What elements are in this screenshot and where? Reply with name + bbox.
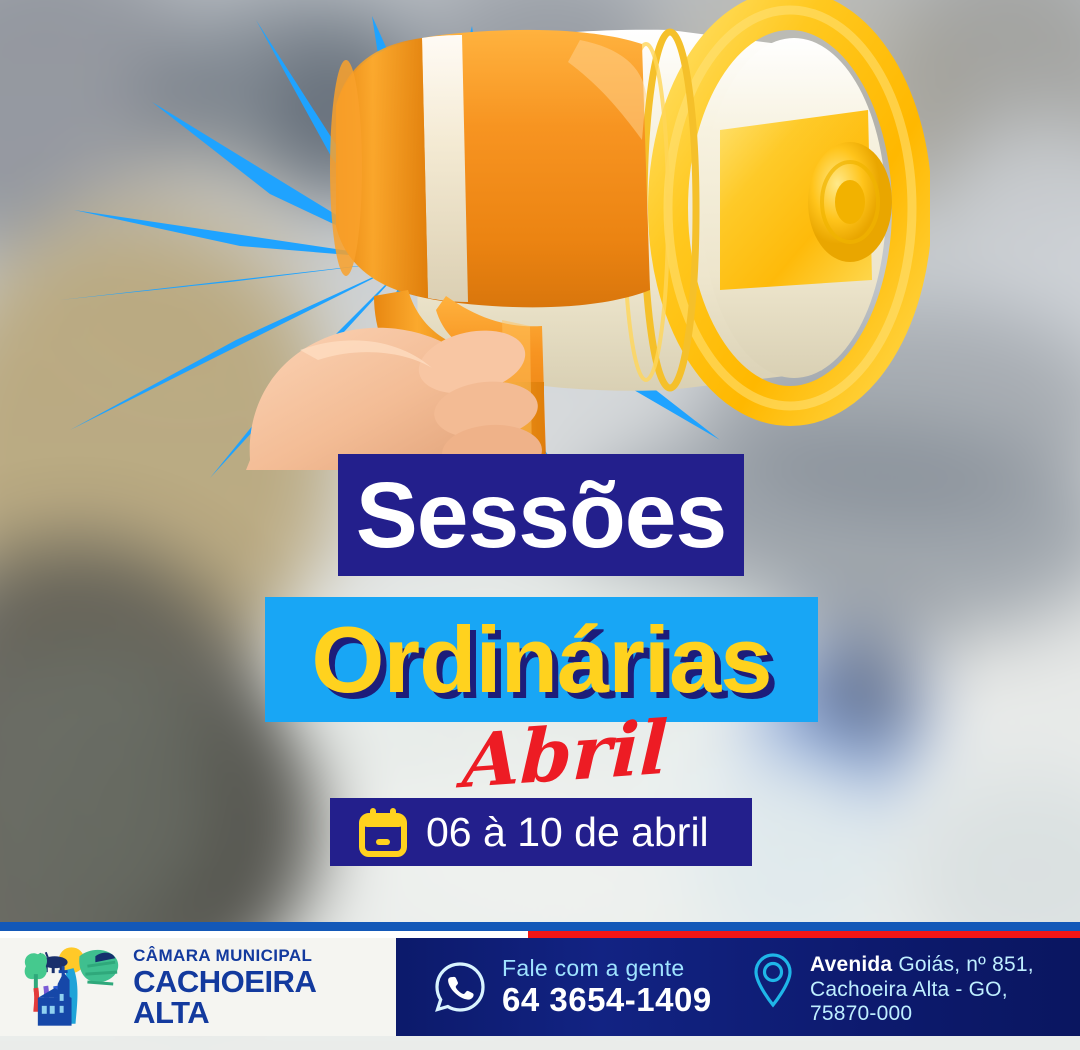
address-line-2: Cachoeira Alta - GO, [810,978,1034,1003]
date-range-text: 06 à 10 de abril [426,812,709,853]
date-range-block: 06 à 10 de abril [330,798,752,866]
headline-secondary-block: Ordinárias [265,597,818,722]
poster-canvas: Sessões Ordinárias Abril 06 à 10 de abri… [0,0,1080,1050]
contact-label: Fale com a gente [502,956,712,980]
footer-rule-white [0,931,528,938]
headline-primary-text: Sessões [356,469,726,562]
cachoeira-alta-city-logo-icon [18,944,125,1030]
footer-info-panel: Fale com a gente 64 3654-1409 Avenida Go… [396,938,1080,1036]
footer-bar: CÂMARA MUNICIPAL CACHOEIRA ALTA Fale com… [0,922,1080,1036]
address-street-rest: Goiás, nº 851, [892,953,1033,976]
contact-phone[interactable]: 64 3654-1409 [502,983,712,1018]
megaphone-illustration [150,0,930,470]
location-pin-icon [748,951,798,1011]
headline-secondary-text: Ordinárias [311,613,771,707]
address-line-3: 75870-000 [810,1002,1034,1027]
brand-line-1: CÂMARA MUNICIPAL [133,947,396,964]
calendar-icon [358,806,408,858]
background-photo-bottom-sliver [0,1036,1080,1050]
headline-primary-block: Sessões [338,454,744,576]
whatsapp-icon[interactable] [432,959,488,1015]
contact-block: Fale com a gente 64 3654-1409 [396,956,744,1018]
footer-top-rule-blue [0,922,1080,931]
brand-block: CÂMARA MUNICIPAL CACHOEIRA ALTA [0,938,396,1036]
brand-line-2: CACHOEIRA ALTA [133,966,396,1028]
address-line-1: Avenida Goiás, nº 851, [810,953,1034,978]
address-block: Avenida Goiás, nº 851, Cachoeira Alta - … [744,947,1034,1027]
footer-rule-red [528,931,1080,938]
address-street-label: Avenida [810,953,892,976]
